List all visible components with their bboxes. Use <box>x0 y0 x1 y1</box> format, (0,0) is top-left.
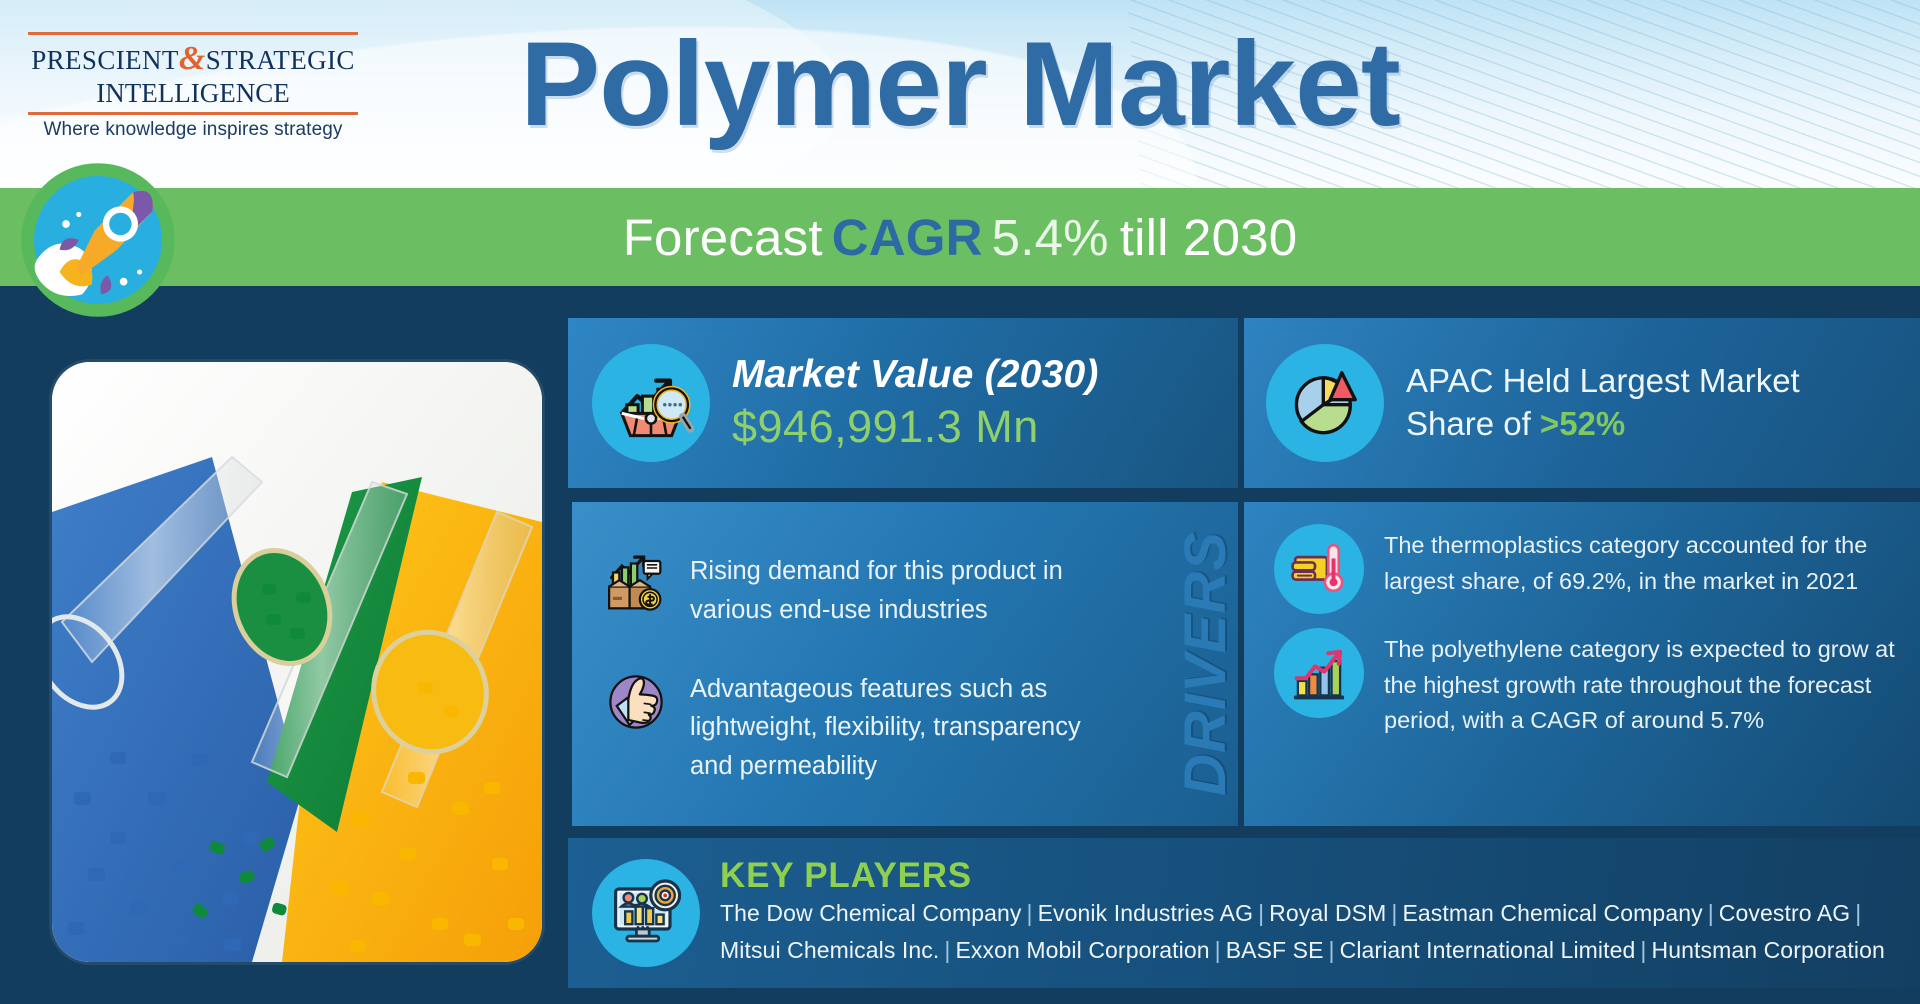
driver-text: Rising demand for this product in variou… <box>690 552 1124 630</box>
company-logo: PRESCIENT&STRATEGIC INTELLIGENCE Where k… <box>28 32 358 141</box>
list-item: Advantageous features such as lightweigh… <box>604 670 1124 786</box>
separator: | <box>1850 900 1866 926</box>
segments-list: The thermoplastics category accounted fo… <box>1274 524 1898 753</box>
logo-line-2: INTELLIGENCE <box>28 78 358 112</box>
plastic-thermometer-icon <box>1274 524 1364 614</box>
apac-share-prefix: Share of <box>1406 405 1531 442</box>
apac-text: APAC Held Largest Market Share of >52% <box>1406 360 1800 446</box>
apac-share-value: >52% <box>1540 405 1625 442</box>
key-player-name: Huntsman Corporation <box>1651 937 1884 963</box>
key-player-name: The Dow Chemical Company <box>720 900 1022 926</box>
key-player-name: Eastman Chemical Company <box>1402 900 1702 926</box>
drivers-card: Rising demand for this product in variou… <box>572 502 1238 826</box>
driver-text: Advantageous features such as lightweigh… <box>690 670 1124 786</box>
key-player-name: Covestro AG <box>1719 900 1851 926</box>
list-item: Rising demand for this product in variou… <box>604 552 1124 630</box>
logo-strategic: STRATEGIC <box>206 45 355 75</box>
drivers-vertical-label: DRIVERS <box>1170 496 1240 830</box>
separator: | <box>1022 900 1038 926</box>
key-player-name: Evonik Industries AG <box>1038 900 1254 926</box>
polymer-pellets-photo <box>52 362 542 962</box>
logo-line-1: PRESCIENT&STRATEGIC <box>28 35 358 78</box>
key-player-name: BASF SE <box>1226 937 1324 963</box>
monitor-target-icon <box>592 859 700 967</box>
key-player-name: Exxon Mobil Corporation <box>955 937 1209 963</box>
cagr-value: 5.4% <box>992 208 1109 267</box>
separator: | <box>1386 900 1402 926</box>
thumbs-up-icon <box>604 670 668 734</box>
logo-prescient: PRESCIENT <box>31 45 179 75</box>
forecast-suffix: till 2030 <box>1120 208 1298 267</box>
box-growth-icon <box>604 552 668 616</box>
apac-line-2: Share of >52% <box>1406 403 1800 446</box>
separator: | <box>1210 937 1226 963</box>
separator: | <box>939 937 955 963</box>
market-value-label: Market Value (2030) <box>732 352 1099 397</box>
logo-tagline: Where knowledge inspires strategy <box>28 115 358 141</box>
cagr-label: CAGR <box>832 208 983 267</box>
key-player-name: Clariant International Limited <box>1340 937 1636 963</box>
list-item: The polyethylene category is expected to… <box>1274 628 1898 739</box>
forecast-banner-text: Forecast CAGR 5.4% till 2030 <box>0 188 1920 286</box>
apac-share-card: APAC Held Largest Market Share of >52% <box>1244 318 1920 488</box>
key-player-name: Mitsui Chemicals Inc. <box>720 937 939 963</box>
market-value-amount: $946,991.3 Mn <box>732 400 1099 454</box>
key-players-card: KEY PLAYERS The Dow Chemical Company|Evo… <box>568 838 1920 988</box>
key-players-row-1: The Dow Chemical Company|Evonik Industri… <box>720 895 1885 932</box>
rocket-icon <box>18 160 178 320</box>
pie-chart-icon <box>1266 344 1384 462</box>
forecast-prefix: Forecast <box>623 208 823 267</box>
apac-line-1: APAC Held Largest Market <box>1406 360 1800 403</box>
segment-text: The thermoplastics category accounted fo… <box>1384 524 1898 599</box>
drivers-list: Rising demand for this product in variou… <box>604 552 1124 826</box>
growth-chart-icon <box>1274 628 1364 718</box>
segment-text: The polyethylene category is expected to… <box>1384 628 1898 739</box>
separator: | <box>1324 937 1340 963</box>
market-value-card: Market Value (2030) $946,991.3 Mn <box>568 318 1238 488</box>
segments-card: The thermoplastics category accounted fo… <box>1244 502 1920 826</box>
key-players-row-2: Mitsui Chemicals Inc.|Exxon Mobil Corpor… <box>720 932 1885 969</box>
key-players-title: KEY PLAYERS <box>720 857 1885 896</box>
separator: | <box>1253 900 1269 926</box>
market-research-icon <box>592 344 710 462</box>
logo-ampersand: & <box>179 40 206 77</box>
separator: | <box>1703 900 1719 926</box>
separator: | <box>1635 937 1651 963</box>
list-item: The thermoplastics category accounted fo… <box>1274 524 1898 614</box>
key-player-name: Royal DSM <box>1269 900 1386 926</box>
